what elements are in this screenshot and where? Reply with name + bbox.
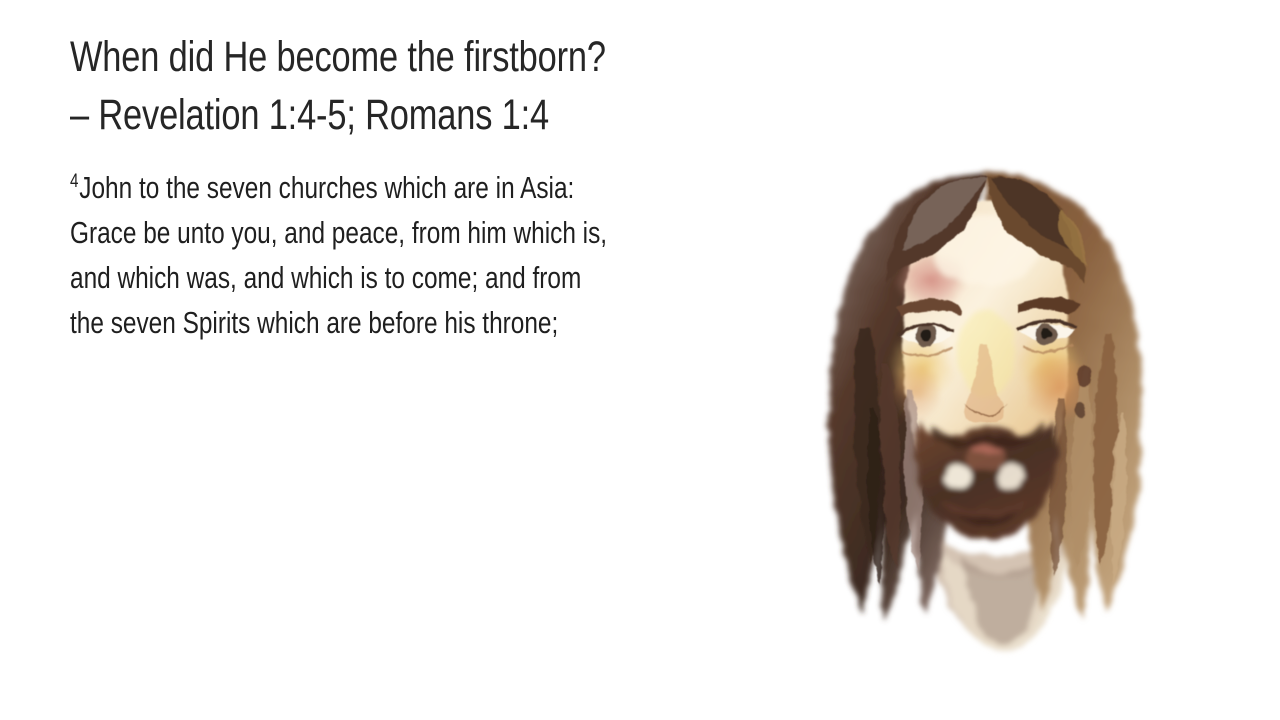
slide-text-area: When did He become the firstborn? – Reve… (70, 28, 790, 346)
slide-title: When did He become the firstborn? – Reve… (70, 28, 790, 144)
body-line-4: the seven Spirits which are before his t… (70, 301, 790, 346)
jesus-portrait-image (812, 158, 1160, 663)
slide-canvas: When did He become the firstborn? – Reve… (0, 0, 1280, 720)
slide-body-text: 4John to the seven churches which are in… (70, 166, 790, 346)
body-line-1: 4John to the seven churches which are in… (70, 166, 790, 211)
body-line-3: and which was, and which is to come; and… (70, 256, 790, 301)
body-line-2: Grace be unto you, and peace, from him w… (70, 211, 790, 256)
verse-number-superscript: 4 (70, 171, 78, 192)
body-line-1-text: John to the seven churches which are in … (79, 171, 574, 205)
